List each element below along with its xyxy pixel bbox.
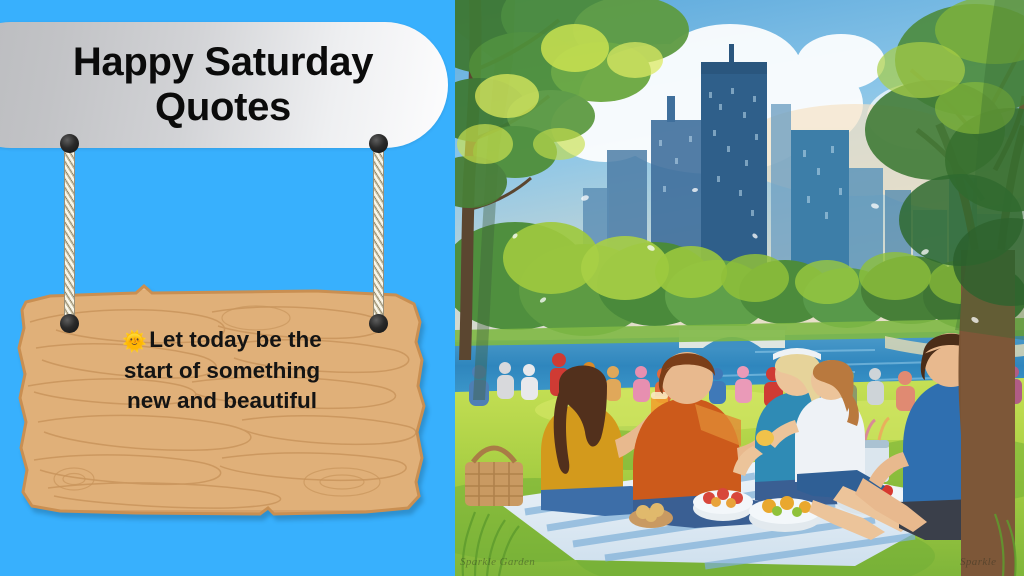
rope-eyelet-top-right: [369, 134, 388, 153]
left-quote-panel: Happy Saturday Quotes: [0, 0, 455, 576]
park-picnic-illustration: [455, 0, 1024, 576]
poster-canvas: Happy Saturday Quotes: [0, 0, 1024, 576]
hanging-rope-left: [64, 140, 75, 332]
hanging-rope-right: [373, 140, 384, 332]
sun-with-face-icon: 🌞: [122, 331, 147, 353]
quote-line-1-text: Let today be the: [149, 327, 322, 352]
quote-line-2: start of something: [50, 356, 394, 386]
page-title-line-2: Quotes: [155, 85, 291, 130]
page-title-line-1: Happy Saturday: [73, 40, 373, 85]
quote-text: 🌞Let today be the start of something new…: [16, 325, 428, 415]
quote-line-1: 🌞Let today be the: [50, 325, 394, 356]
rope-eyelet-top-left: [60, 134, 79, 153]
title-banner: Happy Saturday Quotes: [0, 22, 448, 148]
quote-line-3: new and beautiful: [50, 386, 394, 416]
